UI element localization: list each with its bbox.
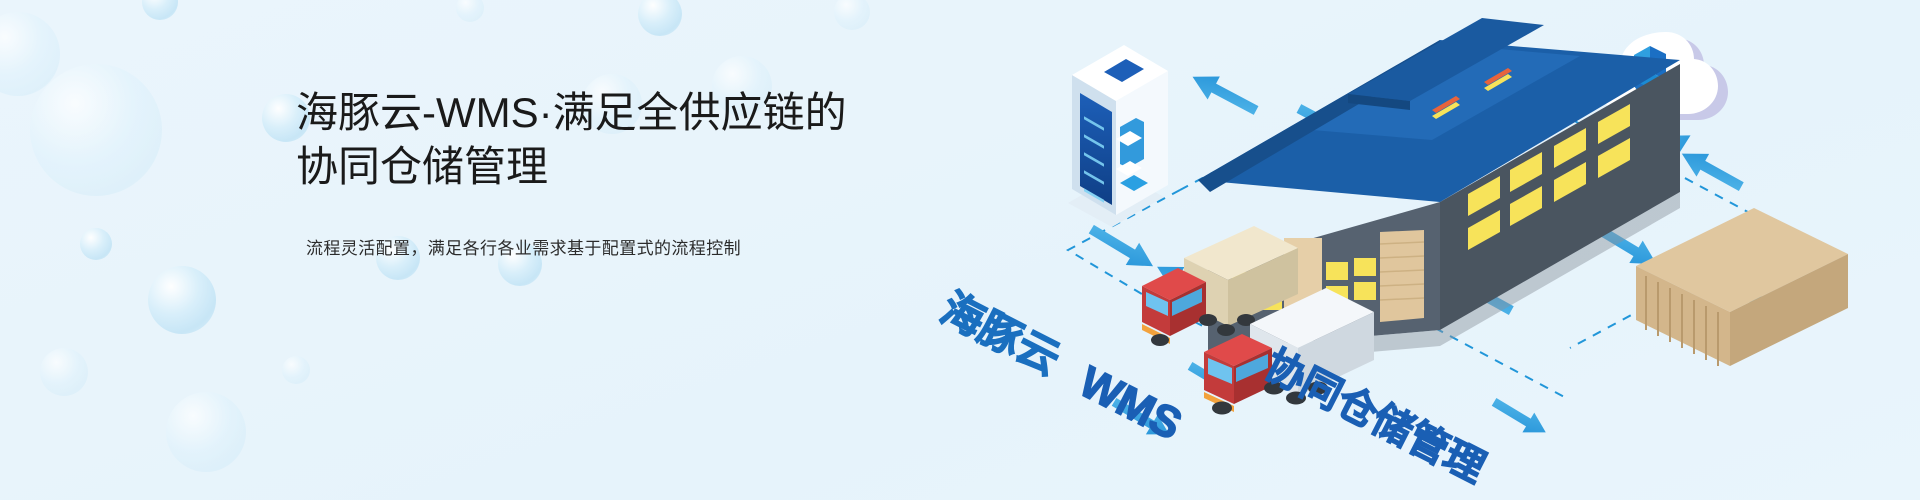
decorative-bubble	[148, 266, 216, 334]
label-collaborative-warehousing: 协同仓储管理	[1258, 343, 1492, 491]
shipping-container	[1636, 208, 1848, 366]
decorative-bubble	[0, 12, 60, 96]
decorative-bubble	[40, 348, 88, 396]
decorative-bubble	[834, 0, 870, 30]
label-wms: WMS	[1071, 357, 1189, 449]
illustration-label-right: 协同仓储管理	[1258, 343, 1492, 491]
decorative-bubble	[282, 356, 310, 384]
decorative-bubble	[456, 0, 484, 22]
warehouse-building	[1198, 0, 1680, 366]
decorative-bubble	[30, 64, 162, 196]
banner-headline: 海豚云-WMS·满足全供应链的 协同仓储管理	[296, 86, 916, 194]
decorative-bubble	[142, 0, 178, 20]
server-rack-icon	[1068, 45, 1168, 227]
warehouse-illustration: 海豚云 WMS 协同仓储管理	[880, 0, 1920, 500]
label-haitunyun: 海豚云	[934, 284, 1068, 383]
banner-text-block: 海豚云-WMS·满足全供应链的 协同仓储管理 流程灵活配置，满足各行各业需求基于…	[296, 86, 916, 262]
promo-banner: 海豚云-WMS·满足全供应链的 协同仓储管理 流程灵活配置，满足各行各业需求基于…	[0, 0, 1920, 500]
decorative-bubble	[80, 228, 112, 260]
decorative-bubble	[638, 0, 682, 36]
banner-subheadline: 流程灵活配置，满足各行各业需求基于配置式的流程控制	[296, 236, 916, 262]
decorative-bubble	[166, 392, 246, 472]
